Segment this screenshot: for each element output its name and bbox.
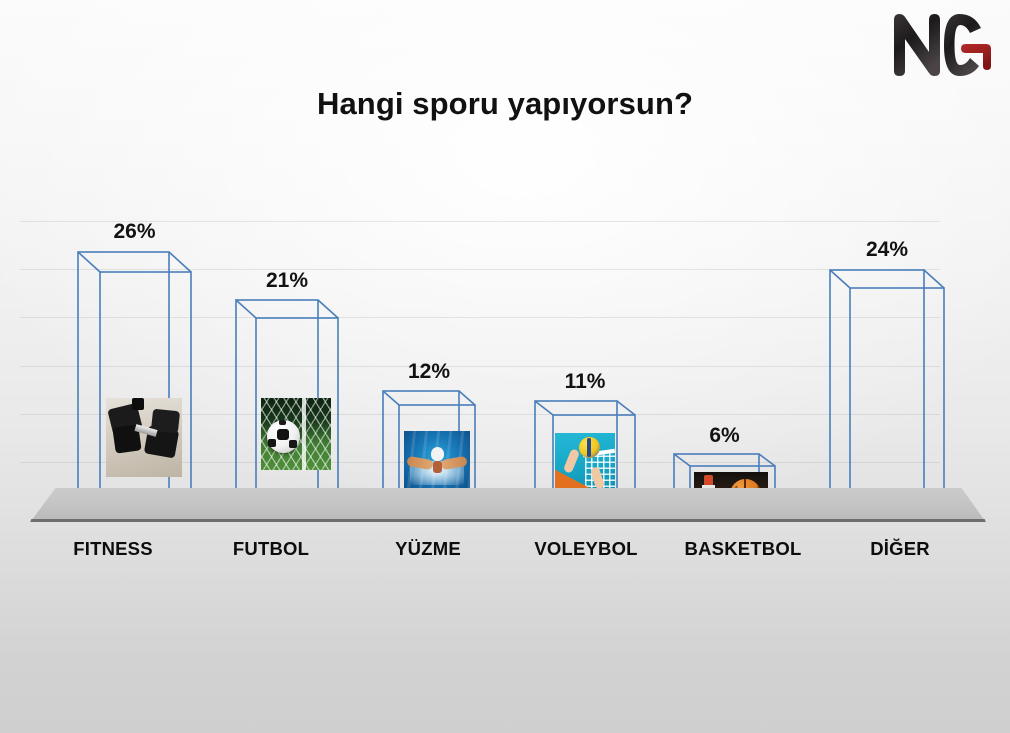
category-label-futbol: FUTBOL <box>233 538 309 560</box>
chart-plot-area: 26% <box>0 180 1010 520</box>
bar-picture-futbol <box>261 398 331 470</box>
bar-3d-wireframe <box>828 268 946 520</box>
floor-front-edge <box>0 519 1010 522</box>
chart-floor-plane <box>0 488 1010 522</box>
page-title: Hangi sporu yapıyorsun? <box>0 86 1010 122</box>
bar-value-label: 24% <box>866 238 908 262</box>
logo-letter-n <box>894 14 940 76</box>
ng-logo <box>888 8 996 80</box>
bar-value-label: 12% <box>408 360 450 384</box>
bar-futbol[interactable]: 21% <box>234 298 340 520</box>
category-axis: FITNESS FUTBOL YÜZME VOLEYBOL BASKETBOL … <box>0 538 1010 568</box>
bar-value-label: 21% <box>266 269 308 293</box>
bar-diger[interactable]: 24% <box>828 268 946 520</box>
bar-value-label: 26% <box>113 220 155 244</box>
category-label-basketbol: BASKETBOL <box>685 538 802 560</box>
bar-picture-yuzme <box>404 431 470 493</box>
bar-3d-wireframe <box>76 250 193 520</box>
bar-picture-fitness <box>106 398 182 477</box>
category-label-voleybol: VOLEYBOL <box>534 538 637 560</box>
floor-slab <box>0 488 1010 522</box>
category-label-diger: DİĞER <box>870 538 930 560</box>
bar-picture-voleybol <box>555 433 615 493</box>
slide-canvas: Hangi sporu yapıyorsun? <box>0 0 1010 733</box>
gridline <box>20 221 940 222</box>
bar-fitness[interactable]: 26% <box>76 250 193 520</box>
bar-value-label: 6% <box>709 424 739 448</box>
category-label-yuzme: YÜZME <box>395 538 461 560</box>
category-label-fitness: FITNESS <box>73 538 153 560</box>
bar-value-label: 11% <box>565 370 606 394</box>
